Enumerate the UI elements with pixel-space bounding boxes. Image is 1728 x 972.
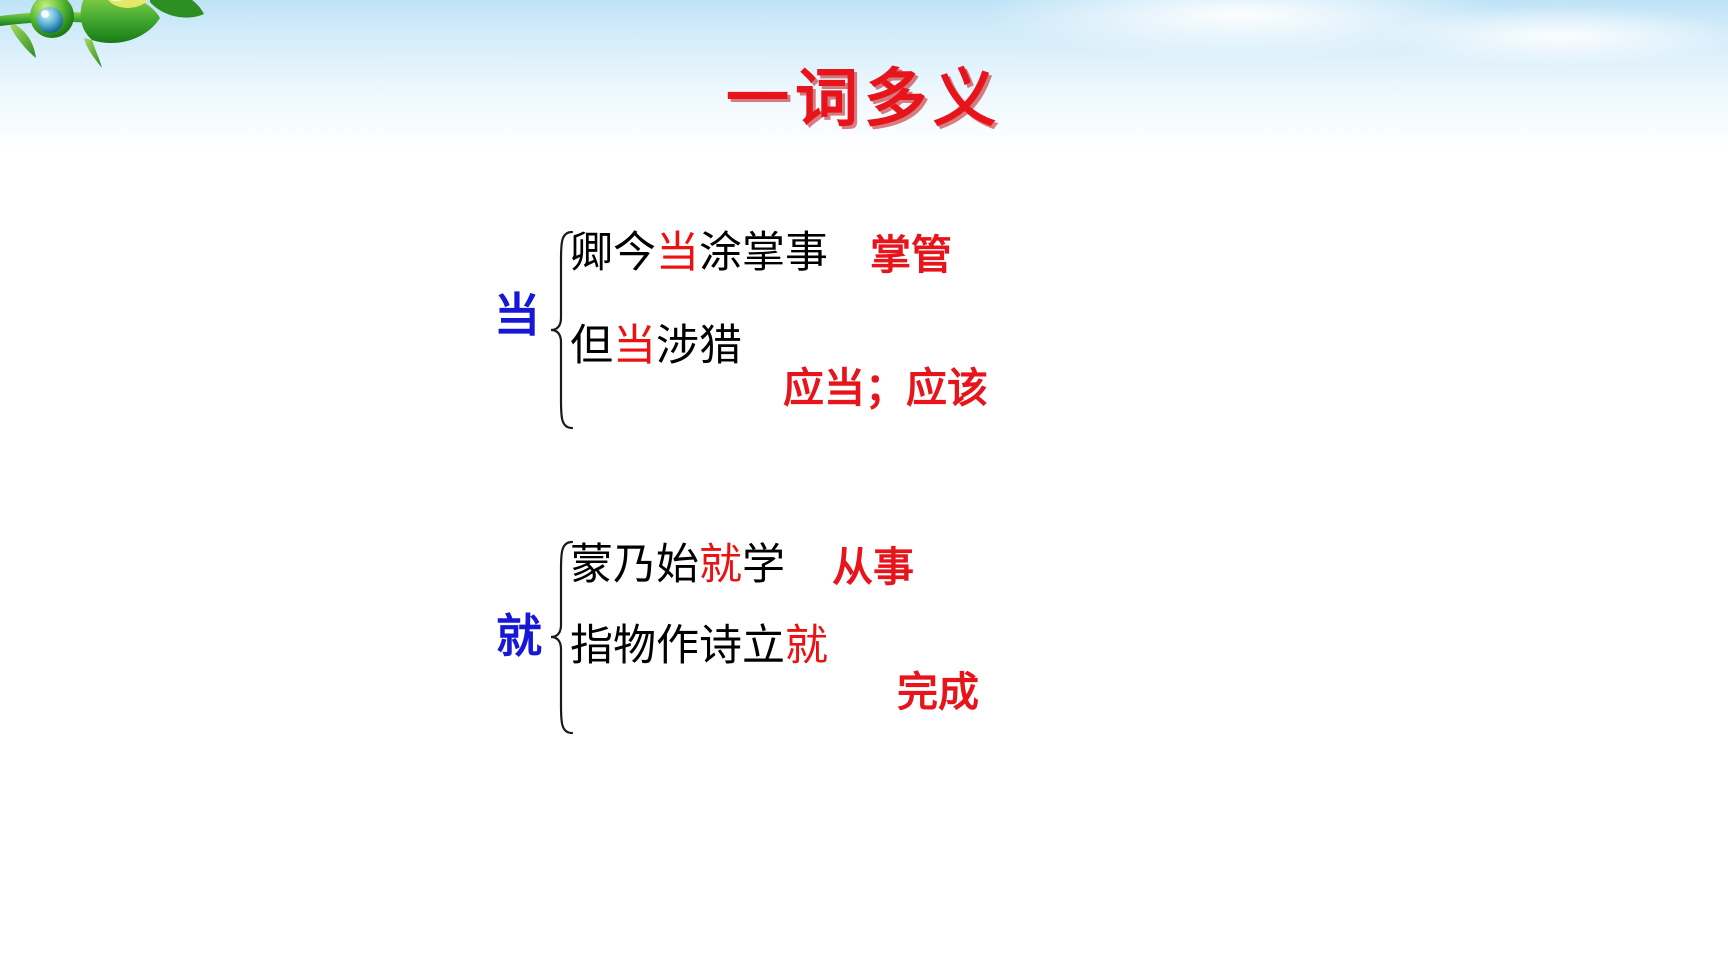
sentence-part: 蒙乃始: [570, 540, 699, 590]
gloss-3: 从事: [832, 547, 914, 588]
page-title: 一词多义: [0, 48, 1728, 139]
sentence-part: 指物作诗立: [570, 621, 785, 671]
slide-canvas: 一词多义 当 卿今当涂掌事 掌管 但当涉猎 应当；应该 就 蒙乃始就学 从事: [0, 0, 1728, 972]
example-sentence-1: 卿今当涂掌事: [570, 232, 828, 275]
example-sentence-2: 但当涉猎: [570, 325, 742, 368]
example-sentence-3: 蒙乃始就学: [570, 544, 785, 587]
sentence-part: 涉猎: [656, 321, 742, 371]
headword-dang: 当: [494, 292, 540, 338]
sentence-keyword: 当: [656, 228, 699, 278]
sentence-keyword: 就: [785, 621, 828, 671]
sentence-part: 学: [742, 540, 785, 590]
sentence-keyword: 就: [699, 540, 742, 590]
gloss-4: 完成: [897, 672, 979, 713]
gloss-1: 掌管: [870, 235, 952, 276]
gloss-2: 应当；应该: [783, 368, 988, 409]
headword-jiu: 就: [496, 613, 542, 659]
sentence-part: 卿今: [570, 228, 656, 278]
sentence-part: 涂掌事: [699, 228, 828, 278]
sentence-keyword: 当: [613, 321, 656, 371]
sentence-part: 但: [570, 321, 613, 371]
example-sentence-4: 指物作诗立就: [570, 625, 828, 668]
